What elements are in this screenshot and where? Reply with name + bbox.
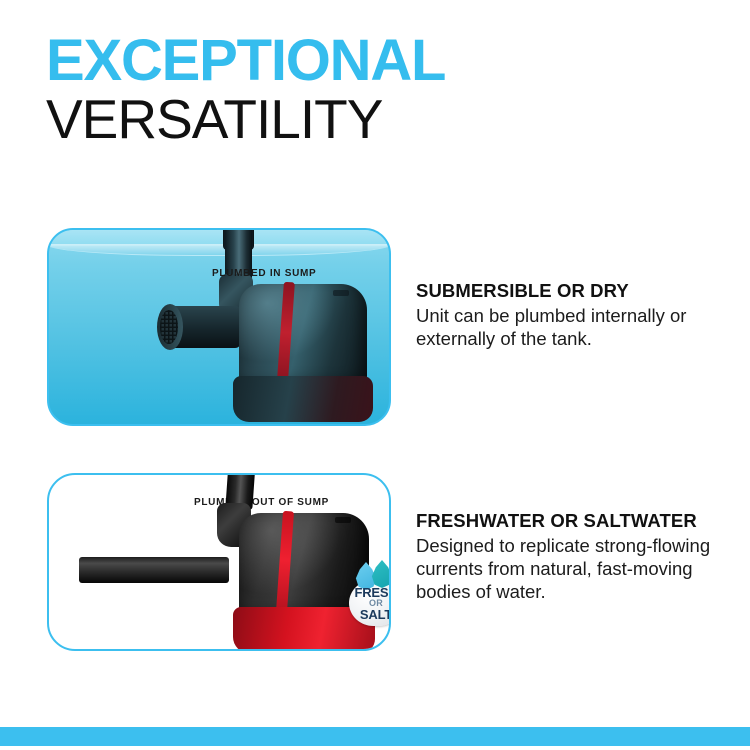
footer-accent-bar bbox=[0, 727, 750, 746]
pump-illustration-submerged bbox=[127, 228, 377, 424]
badge-label-fresh: FRESH bbox=[347, 586, 391, 599]
fresh-or-salt-badge: FRESH OR SALT bbox=[347, 560, 391, 626]
feature-body: Unit can be plumbed internally or extern… bbox=[416, 305, 736, 351]
feature-row-freshwater-saltwater: PLUMBED OUT OF SUMP FRESH OR SALT FRESHW… bbox=[0, 473, 750, 653]
illustration-panel-plumbed-out-of-sump: PLUMBED OUT OF SUMP FRESH OR SALT bbox=[47, 473, 391, 651]
badge-text: FRESH OR SALT bbox=[347, 586, 391, 622]
page-title: EXCEPTIONAL VERSATILITY bbox=[46, 34, 445, 147]
pump-base bbox=[233, 376, 373, 422]
badge-label-salt: SALT bbox=[347, 608, 391, 621]
feature-text-submersible: SUBMERSIBLE OR DRY Unit can be plumbed i… bbox=[416, 280, 736, 351]
feature-body: Designed to replicate strong-flowing cur… bbox=[416, 535, 736, 604]
feature-row-submersible: PLUMBED IN SUMP SUBMERSIBLE OR DRY Unit … bbox=[0, 228, 750, 428]
page-title-line-1: EXCEPTIONAL bbox=[46, 34, 445, 89]
feature-heading: FRESHWATER OR SALTWATER bbox=[416, 510, 736, 532]
illustration-panel-plumbed-in-sump: PLUMBED IN SUMP bbox=[47, 228, 391, 426]
outlet-pipe-horizontal bbox=[79, 557, 229, 583]
pump-vents bbox=[335, 517, 351, 523]
pump-body bbox=[239, 284, 367, 390]
pump-vents bbox=[333, 290, 349, 296]
feature-text-freshwater-saltwater: FRESHWATER OR SALTWATER Designed to repl… bbox=[416, 510, 736, 604]
panel-label-plumbed-in-sump: PLUMBED IN SUMP bbox=[212, 268, 316, 279]
feature-heading: SUBMERSIBLE OR DRY bbox=[416, 280, 736, 302]
pump-intake-grille-icon bbox=[160, 310, 178, 344]
page-title-line-2: VERSATILITY bbox=[46, 91, 445, 147]
